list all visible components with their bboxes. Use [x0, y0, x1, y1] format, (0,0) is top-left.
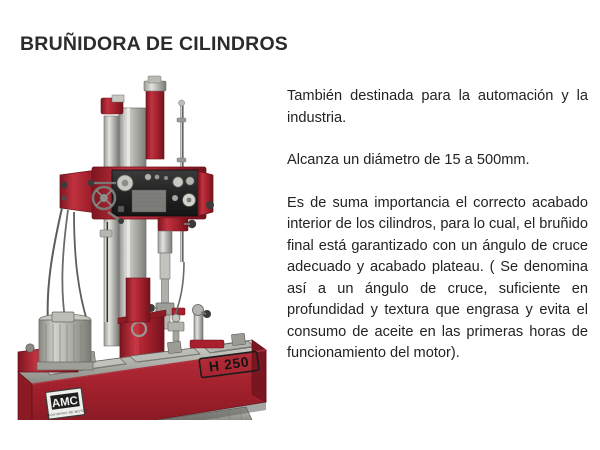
paragraph-3: Es de suma importancia el correcto acaba… [287, 193, 588, 365]
paragraph-2: Alcanza un diámetro de 15 a 500mm. [287, 150, 588, 172]
machine-photo: AMC MAQUINARIA DE MOTOR H 250 [8, 72, 280, 420]
page-title: BRUÑIDORA DE CILINDROS [20, 33, 288, 56]
brand-plate: AMC MAQUINARIA DE MOTOR [45, 388, 88, 419]
text-column: También destinada para la automación y l… [287, 86, 588, 365]
paragraph-1: También destinada para la automación y l… [287, 86, 588, 129]
